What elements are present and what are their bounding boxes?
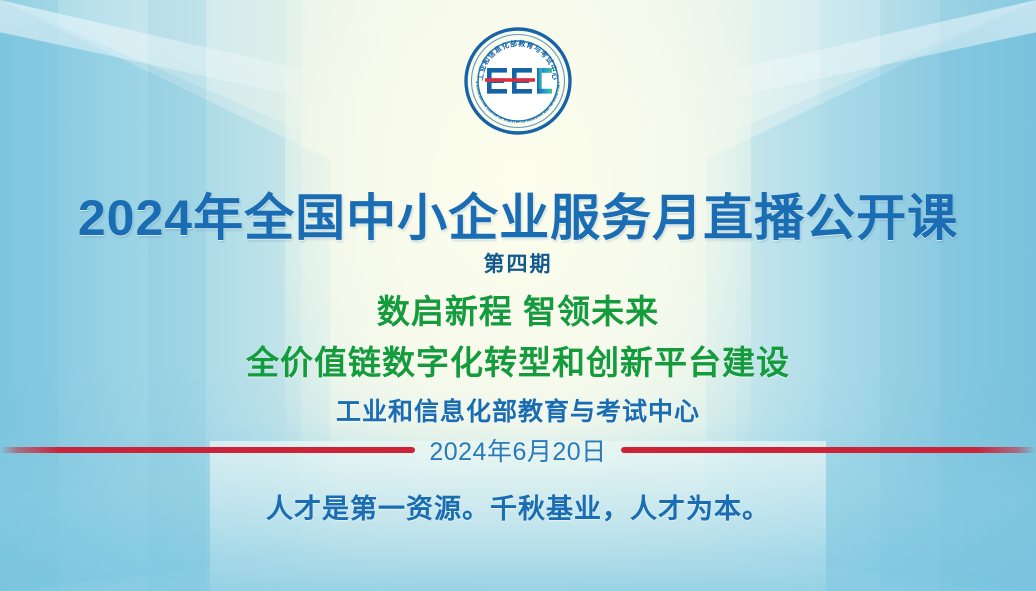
theme-line-1: 数启新程 智领未来 bbox=[0, 285, 1036, 333]
poster-canvas: 工业和信息化部教育与考试中心 EDUCATION & EXAMINATION C… bbox=[0, 0, 1036, 591]
poster-content: 2024年全国中小企业服务月直播公开课 第四期 数启新程 智领未来 全价值链数字… bbox=[0, 0, 1036, 591]
issue-label: 第四期 bbox=[0, 248, 1036, 278]
event-date: 2024年6月20日 bbox=[415, 432, 620, 468]
organizer-label: 工业和信息化部教育与考试中心 bbox=[0, 392, 1036, 428]
divider-rule-left bbox=[0, 447, 415, 453]
theme-line-2: 全价值链数字化转型和创新平台建设 bbox=[0, 336, 1036, 384]
date-row: 2024年6月20日 bbox=[0, 433, 1036, 467]
divider-rule-right bbox=[621, 447, 1036, 453]
slogan-text: 人才是第一资源。千秋基业，人才为本。 bbox=[0, 487, 1036, 526]
page-title: 2024年全国中小企业服务月直播公开课 bbox=[0, 178, 1036, 250]
